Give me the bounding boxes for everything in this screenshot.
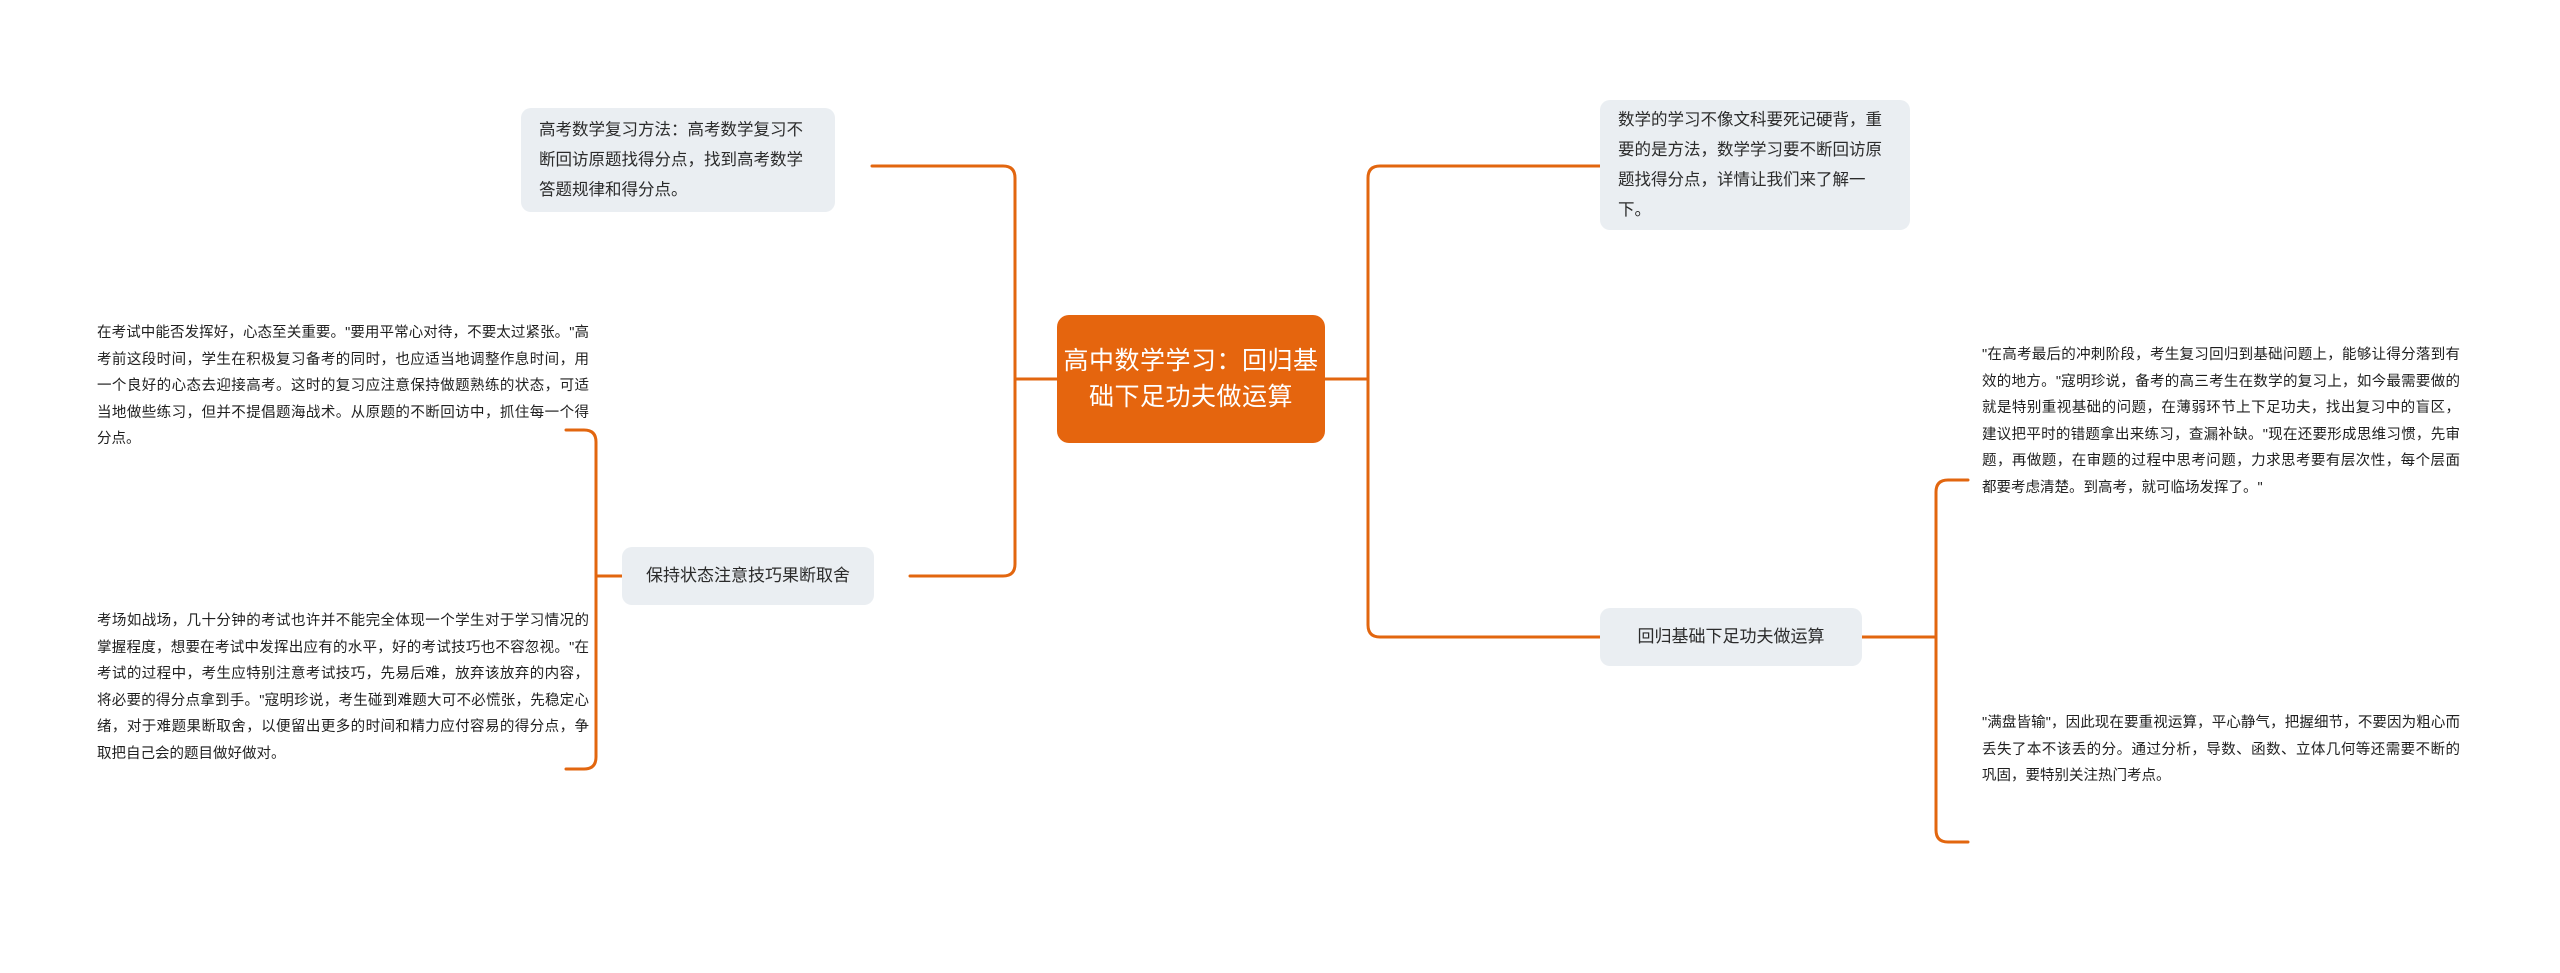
branch-node-top-right-label: 数学的学习不像文科要死记硬背，重要的是方法，数学学习要不断回访原题找得分点，详情…	[1618, 105, 1892, 225]
branch-node-top-right[interactable]: 数学的学习不像文科要死记硬背，重要的是方法，数学学习要不断回访原题找得分点，详情…	[1600, 100, 1910, 230]
mindmap-canvas: 高中数学学习：回归基础下足功夫做运算 高考数学复习方法：高考数学复习不断回访原题…	[0, 0, 2560, 973]
connector-left-trunk-lower	[962, 379, 1015, 576]
branch-node-mid-left-label: 保持状态注意技巧果断取舍	[646, 563, 850, 589]
connector-left-trunk	[962, 166, 1015, 379]
root-node-label: 高中数学学习：回归基础下足功夫做运算	[1057, 343, 1325, 415]
branch-node-top-left-label: 高考数学复习方法：高考数学复习不断回访原题找得分点，找到高考数学答题规律和得分点…	[539, 115, 817, 205]
leaf-node-right-1[interactable]: "在高考最后的冲刺阶段，考生复习回归到基础问题上，能够让得分落到有效的地方。"寇…	[1982, 342, 2460, 501]
root-node[interactable]: 高中数学学习：回归基础下足功夫做运算	[1057, 315, 1325, 443]
leaf-node-left-2-text: 考场如战场，几十分钟的考试也许并不能完全体现一个学生对于学习情况的掌握程度，想要…	[97, 608, 589, 767]
branch-node-mid-right-label: 回归基础下足功夫做运算	[1638, 624, 1825, 650]
leaf-node-right-2-text: "满盘皆输"，因此现在要重视运算，平心静气，把握细节，不要因为粗心而丢失了本不该…	[1982, 710, 2460, 790]
leaf-node-right-1-text: "在高考最后的冲刺阶段，考生复习回归到基础问题上，能够让得分落到有效的地方。"寇…	[1982, 342, 2460, 501]
leaf-node-left-1-text: 在考试中能否发挥好，心态至关重要。"要用平常心对待，不要太过紧张。"高考前这段时…	[97, 320, 589, 453]
connector-midright-up	[1936, 480, 1968, 637]
branch-node-top-left[interactable]: 高考数学复习方法：高考数学复习不断回访原题找得分点，找到高考数学答题规律和得分点…	[521, 108, 835, 212]
branch-node-mid-left[interactable]: 保持状态注意技巧果断取舍	[622, 547, 874, 605]
leaf-node-left-1[interactable]: 在考试中能否发挥好，心态至关重要。"要用平常心对待，不要太过紧张。"高考前这段时…	[97, 320, 589, 453]
connector-right-trunk-lower	[1368, 379, 1430, 637]
leaf-node-right-2[interactable]: "满盘皆输"，因此现在要重视运算，平心静气，把握细节，不要因为粗心而丢失了本不该…	[1982, 710, 2460, 790]
connector-right-trunk	[1368, 166, 1430, 379]
connector-midright-down	[1936, 637, 1968, 842]
branch-node-mid-right[interactable]: 回归基础下足功夫做运算	[1600, 608, 1862, 666]
leaf-node-left-2[interactable]: 考场如战场，几十分钟的考试也许并不能完全体现一个学生对于学习情况的掌握程度，想要…	[97, 608, 589, 767]
